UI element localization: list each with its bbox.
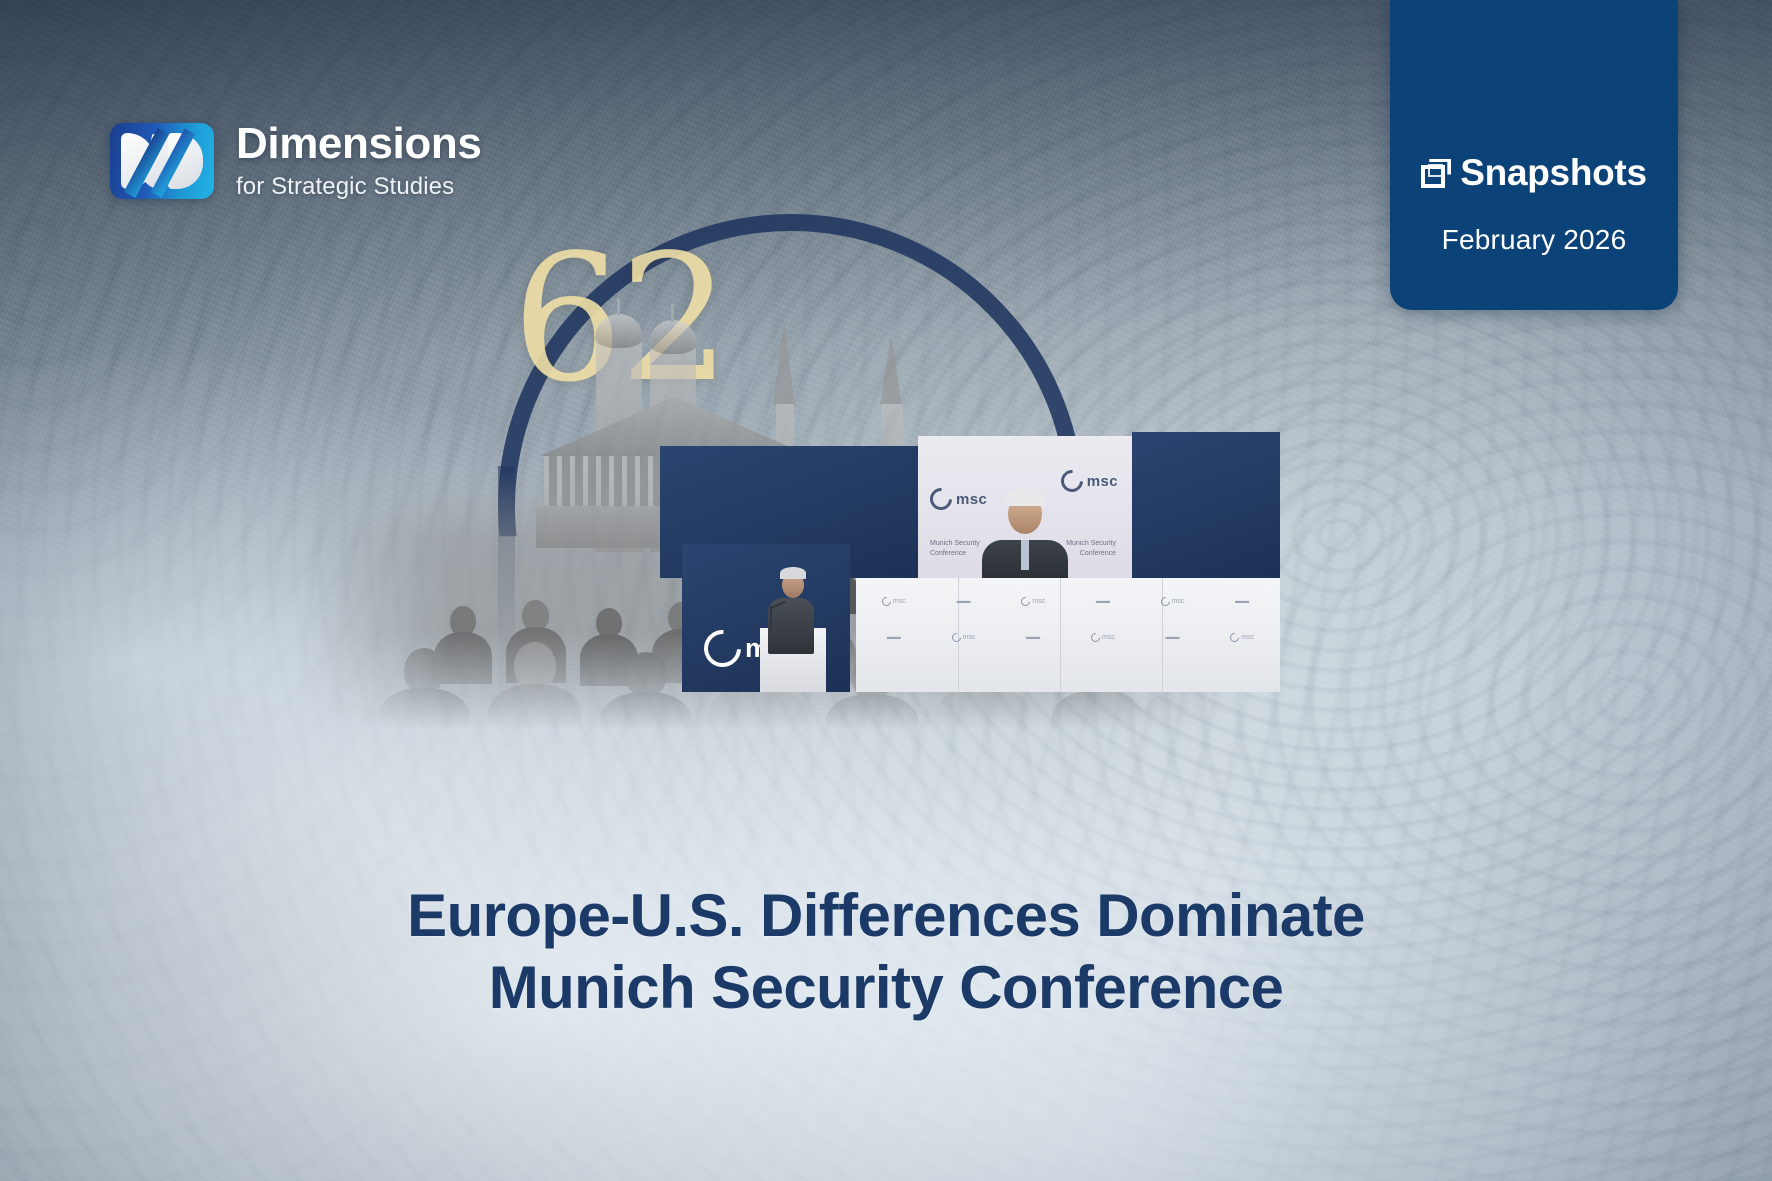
brand-tagline: for Strategic Studies: [236, 175, 481, 199]
brand-name: Dimensions: [236, 122, 481, 166]
page-title-line-2: Munich Security Conference: [0, 952, 1772, 1024]
snapshot-cover: 62: [0, 0, 1772, 1181]
snapshots-date: February 2026: [1442, 224, 1627, 256]
page-title: Europe-U.S. Differences Dominate Munich …: [0, 880, 1772, 1024]
snapshots-badge[interactable]: Snapshots February 2026: [1390, 0, 1678, 310]
page-title-line-1: Europe-U.S. Differences Dominate: [407, 882, 1365, 949]
snapshots-stacked-squares-icon: [1421, 159, 1451, 188]
dss-monogram-icon: [110, 123, 214, 199]
snapshots-title: Snapshots: [1460, 152, 1646, 194]
brand-lockup[interactable]: Dimensions for Strategic Studies: [110, 122, 481, 199]
